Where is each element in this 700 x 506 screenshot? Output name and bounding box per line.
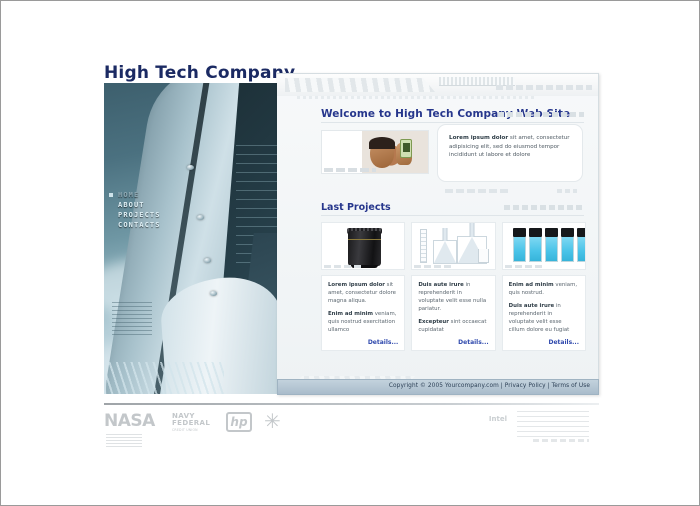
project-paragraph: Lorem ipsum dolor sit amet, consectetur … xyxy=(328,281,398,305)
nav-item-home[interactable]: HOME xyxy=(109,190,161,200)
project-paragraph: Excepteur sint occaecat cupidatat xyxy=(418,318,488,334)
vial-cap xyxy=(577,228,586,237)
vial-body xyxy=(577,237,586,262)
project-paragraph: Enim ad minim veniam, quis nostrud. xyxy=(509,281,579,297)
sample-vial xyxy=(513,228,526,262)
conical-flask xyxy=(434,241,456,263)
nav-item-contacts[interactable]: CONTACTS xyxy=(109,220,161,230)
deco-dotted-line xyxy=(297,96,537,99)
project-card[interactable]: Duis aute irure in reprehenderit in volu… xyxy=(411,222,495,351)
vial-cap xyxy=(513,228,526,237)
photo-caption-lines xyxy=(324,168,376,172)
person-hair xyxy=(369,137,395,149)
project-thumbnail-sample-vials xyxy=(502,222,586,270)
welcome-photo xyxy=(321,130,429,174)
gear-icon: ✳ xyxy=(264,412,284,432)
deco-stripes xyxy=(285,78,435,92)
vial-body xyxy=(545,237,558,262)
partner-logo-strip: NASA NAVY FEDERAL CREDIT UNION hp ✳ Inte… xyxy=(104,403,599,449)
flask-cone xyxy=(434,241,456,263)
hero-rivet xyxy=(210,291,217,296)
welcome-callout-lead: Lorem ipsum dolor xyxy=(449,135,508,141)
site-title: High Tech Company xyxy=(104,63,295,83)
vial-cap xyxy=(561,228,574,237)
thumb-caption-lines xyxy=(505,265,545,268)
vial-body xyxy=(529,237,542,262)
project-paragraph: Duis aute irure in reprehenderit in volu… xyxy=(418,281,488,313)
vial-cap xyxy=(545,228,558,237)
details-link[interactable]: Details... xyxy=(509,339,579,346)
sample-vial xyxy=(545,228,558,262)
faint-logo-caption-right xyxy=(533,439,589,442)
details-link[interactable]: Details... xyxy=(418,339,488,346)
lens-body xyxy=(348,231,381,266)
navy-federal-line2: FEDERAL xyxy=(172,420,210,427)
details-link[interactable]: Details... xyxy=(328,339,398,346)
welcome-rule xyxy=(321,122,584,123)
project-paragraph-lead: Lorem ipsum dolor xyxy=(328,282,385,288)
content-panel: Welcome to High Tech Company Web Site Lo… xyxy=(277,73,599,395)
project-card-body: Duis aute irure in reprehenderit in volu… xyxy=(411,275,495,351)
project-card-list: Lorem ipsum dolor sit amet, consectetur … xyxy=(321,222,586,351)
project-card[interactable]: Enim ad minim veniam, quis nostrud. Duis… xyxy=(502,222,586,351)
nav-bullet-icon xyxy=(109,193,113,197)
footer-copyright: Copyright © 2005 Yourcompany.com | Priva… xyxy=(389,383,590,389)
thumb-caption-lines xyxy=(324,265,364,268)
callout-footer-left-lines xyxy=(445,189,509,193)
faint-logo-lines-left xyxy=(106,434,142,447)
panel-top-decoration xyxy=(277,74,598,96)
welcome-callout: Lorem ipsum dolor sit amet, consectetur … xyxy=(437,124,583,182)
vial-body xyxy=(513,237,526,262)
hero-navigation: HOME ABOUT PROJECTS CONTACTS xyxy=(109,190,161,230)
sample-vial xyxy=(561,228,574,262)
projects-rule xyxy=(321,215,584,216)
project-card-body: Lorem ipsum dolor sit amet, consectetur … xyxy=(321,275,405,351)
nav-item-about[interactable]: ABOUT xyxy=(109,200,161,210)
hero-rivet xyxy=(204,258,211,263)
page-frame: High Tech Company HOME ABOUT PROJECTS CO… xyxy=(0,0,700,506)
beaker xyxy=(478,249,489,263)
project-paragraph: Duis aute irure in reprehenderit in volu… xyxy=(509,302,579,334)
callout-footer-right-lines xyxy=(557,189,577,193)
flask-neck xyxy=(443,228,448,241)
hero-rivet xyxy=(187,165,194,170)
project-paragraph-lead: Excepteur xyxy=(418,319,449,325)
intel-logo: Intel xyxy=(489,415,507,423)
vial-highlight xyxy=(505,234,507,254)
project-thumbnail-lab-flasks xyxy=(411,222,495,270)
projects-heading: Last Projects xyxy=(321,202,391,213)
footer-bar: Copyright © 2005 Yourcompany.com | Priva… xyxy=(277,379,599,395)
hero-hatch-texture xyxy=(104,362,224,394)
hp-logo: hp xyxy=(226,412,252,432)
project-paragraph-lead: Enim ad minim xyxy=(509,282,554,288)
sample-vial xyxy=(529,228,542,262)
projects-tick-decoration xyxy=(504,205,584,210)
project-paragraph-lead: Duis aute irure xyxy=(418,282,464,288)
nasa-logo: NASA xyxy=(104,411,155,431)
welcome-tick-decoration xyxy=(498,112,584,117)
handheld-device xyxy=(400,139,412,158)
nav-item-label: HOME xyxy=(118,191,139,199)
project-paragraph-lead: Duis aute irure xyxy=(509,303,555,309)
graduated-cylinder xyxy=(420,229,427,263)
hero-fineprint-texture xyxy=(112,301,152,335)
thumb-caption-lines xyxy=(414,265,454,268)
nav-item-projects[interactable]: PROJECTS xyxy=(109,210,161,220)
project-paragraph: Enim ad minim veniam, quis nostrud exerc… xyxy=(328,310,398,334)
sample-vial xyxy=(577,228,586,262)
navy-federal-logo: NAVY FEDERAL CREDIT UNION xyxy=(172,413,210,434)
lens-gold-line xyxy=(348,239,381,240)
faint-logo-lines-right xyxy=(517,411,589,437)
welcome-callout-text: Lorem ipsum dolor sit amet, consectetur … xyxy=(449,134,574,160)
deco-right-ticks xyxy=(496,85,592,90)
vial-body xyxy=(561,237,574,262)
strip-divider xyxy=(104,403,599,405)
hero-image xyxy=(104,83,300,394)
cylinder-ticks xyxy=(421,230,426,262)
project-card[interactable]: Lorem ipsum dolor sit amet, consectetur … xyxy=(321,222,405,351)
project-card-body: Enim ad minim veniam, quis nostrud. Duis… xyxy=(502,275,586,351)
flask-neck xyxy=(470,222,475,237)
project-thumbnail-camera-lens xyxy=(321,222,405,270)
navy-federal-sub: CREDIT UNION xyxy=(172,427,210,434)
callout-footer-decoration xyxy=(437,186,583,198)
vial-cap xyxy=(529,228,542,237)
hero-rivet xyxy=(197,215,204,220)
project-paragraph-lead: Enim ad minim xyxy=(328,311,373,317)
